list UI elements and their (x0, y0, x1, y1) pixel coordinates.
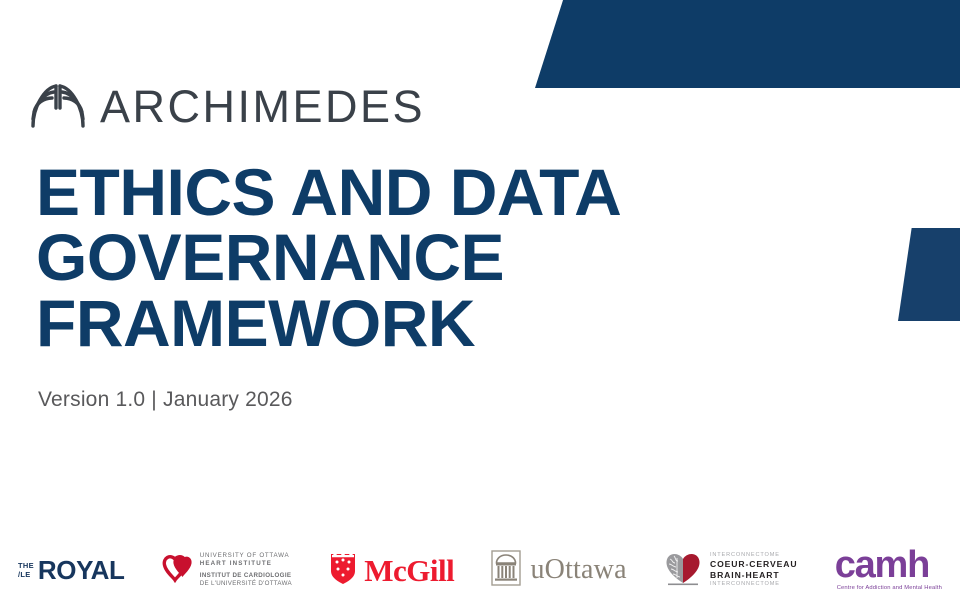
mcgill-shield-icon (329, 551, 357, 590)
brand-lockup: ARCHIMEDES (30, 82, 425, 130)
title-slide: ARCHIMEDES ETHICS AND DATA GOVERNANCE FR… (0, 0, 960, 600)
top-right-parallelogram-decoration (535, 0, 960, 88)
camh-tagline: Centre for Addiction and Mental Health (835, 585, 942, 591)
partner-logo-uottawa-heart-institute: UNIVERSITY OF OTTAWA HEART INSTITUTE INS… (162, 546, 292, 594)
uohi-fr-line1: INSTITUT DE CARDIOLOGIE (200, 572, 292, 580)
partner-logo-brain-heart-interconnectome: INTERCONNECTOME COEUR-CERVEAU BRAIN-HEAR… (664, 546, 797, 594)
royal-pre-line1: THE (18, 561, 34, 570)
royal-wordmark: ROYAL (38, 557, 125, 583)
partner-logo-mcgill: McGill (329, 546, 454, 594)
mcgill-wordmark: McGill (364, 555, 454, 586)
bhi-bottom-line: INTERCONNECTOME (710, 581, 797, 588)
bhi-top-line: INTERCONNECTOME (710, 552, 797, 559)
camh-wordmark: camh (835, 549, 929, 581)
uohi-en-line2: HEART INSTITUTE (200, 560, 292, 568)
bhi-mid-line1: COEUR-CERVEAU (710, 559, 797, 570)
bhi-mid-line2: BRAIN-HEART (710, 570, 797, 581)
uohi-fr-line2: DE L'UNIVERSITÉ D'OTTAWA (200, 580, 292, 588)
version-date-subtitle: Version 1.0 | January 2026 (38, 388, 293, 412)
royal-pre-line2: /LE (18, 570, 34, 579)
double-heart-icon (162, 552, 194, 589)
archimedes-spiral-mark-icon (30, 82, 86, 130)
uohi-en-line1: UNIVERSITY OF OTTAWA (200, 552, 292, 560)
uottawa-wordmark: uOttawa (530, 556, 626, 584)
partner-logo-the-royal: THE /LE ROYAL (18, 546, 125, 594)
page-title: ETHICS AND DATA GOVERNANCE FRAMEWORK (36, 160, 796, 356)
brand-wordmark: ARCHIMEDES (100, 84, 425, 129)
partner-logo-camh: camh Centre for Addiction and Mental Hea… (835, 546, 942, 594)
partner-logo-strip: THE /LE ROYAL UNIVERSITY OF OTTAWA (0, 540, 960, 600)
partner-logo-uottawa: uOttawa (491, 546, 626, 594)
right-middle-parallelogram-decoration (898, 228, 960, 321)
uottawa-portico-icon (491, 550, 521, 591)
brain-heart-icon (664, 550, 704, 591)
